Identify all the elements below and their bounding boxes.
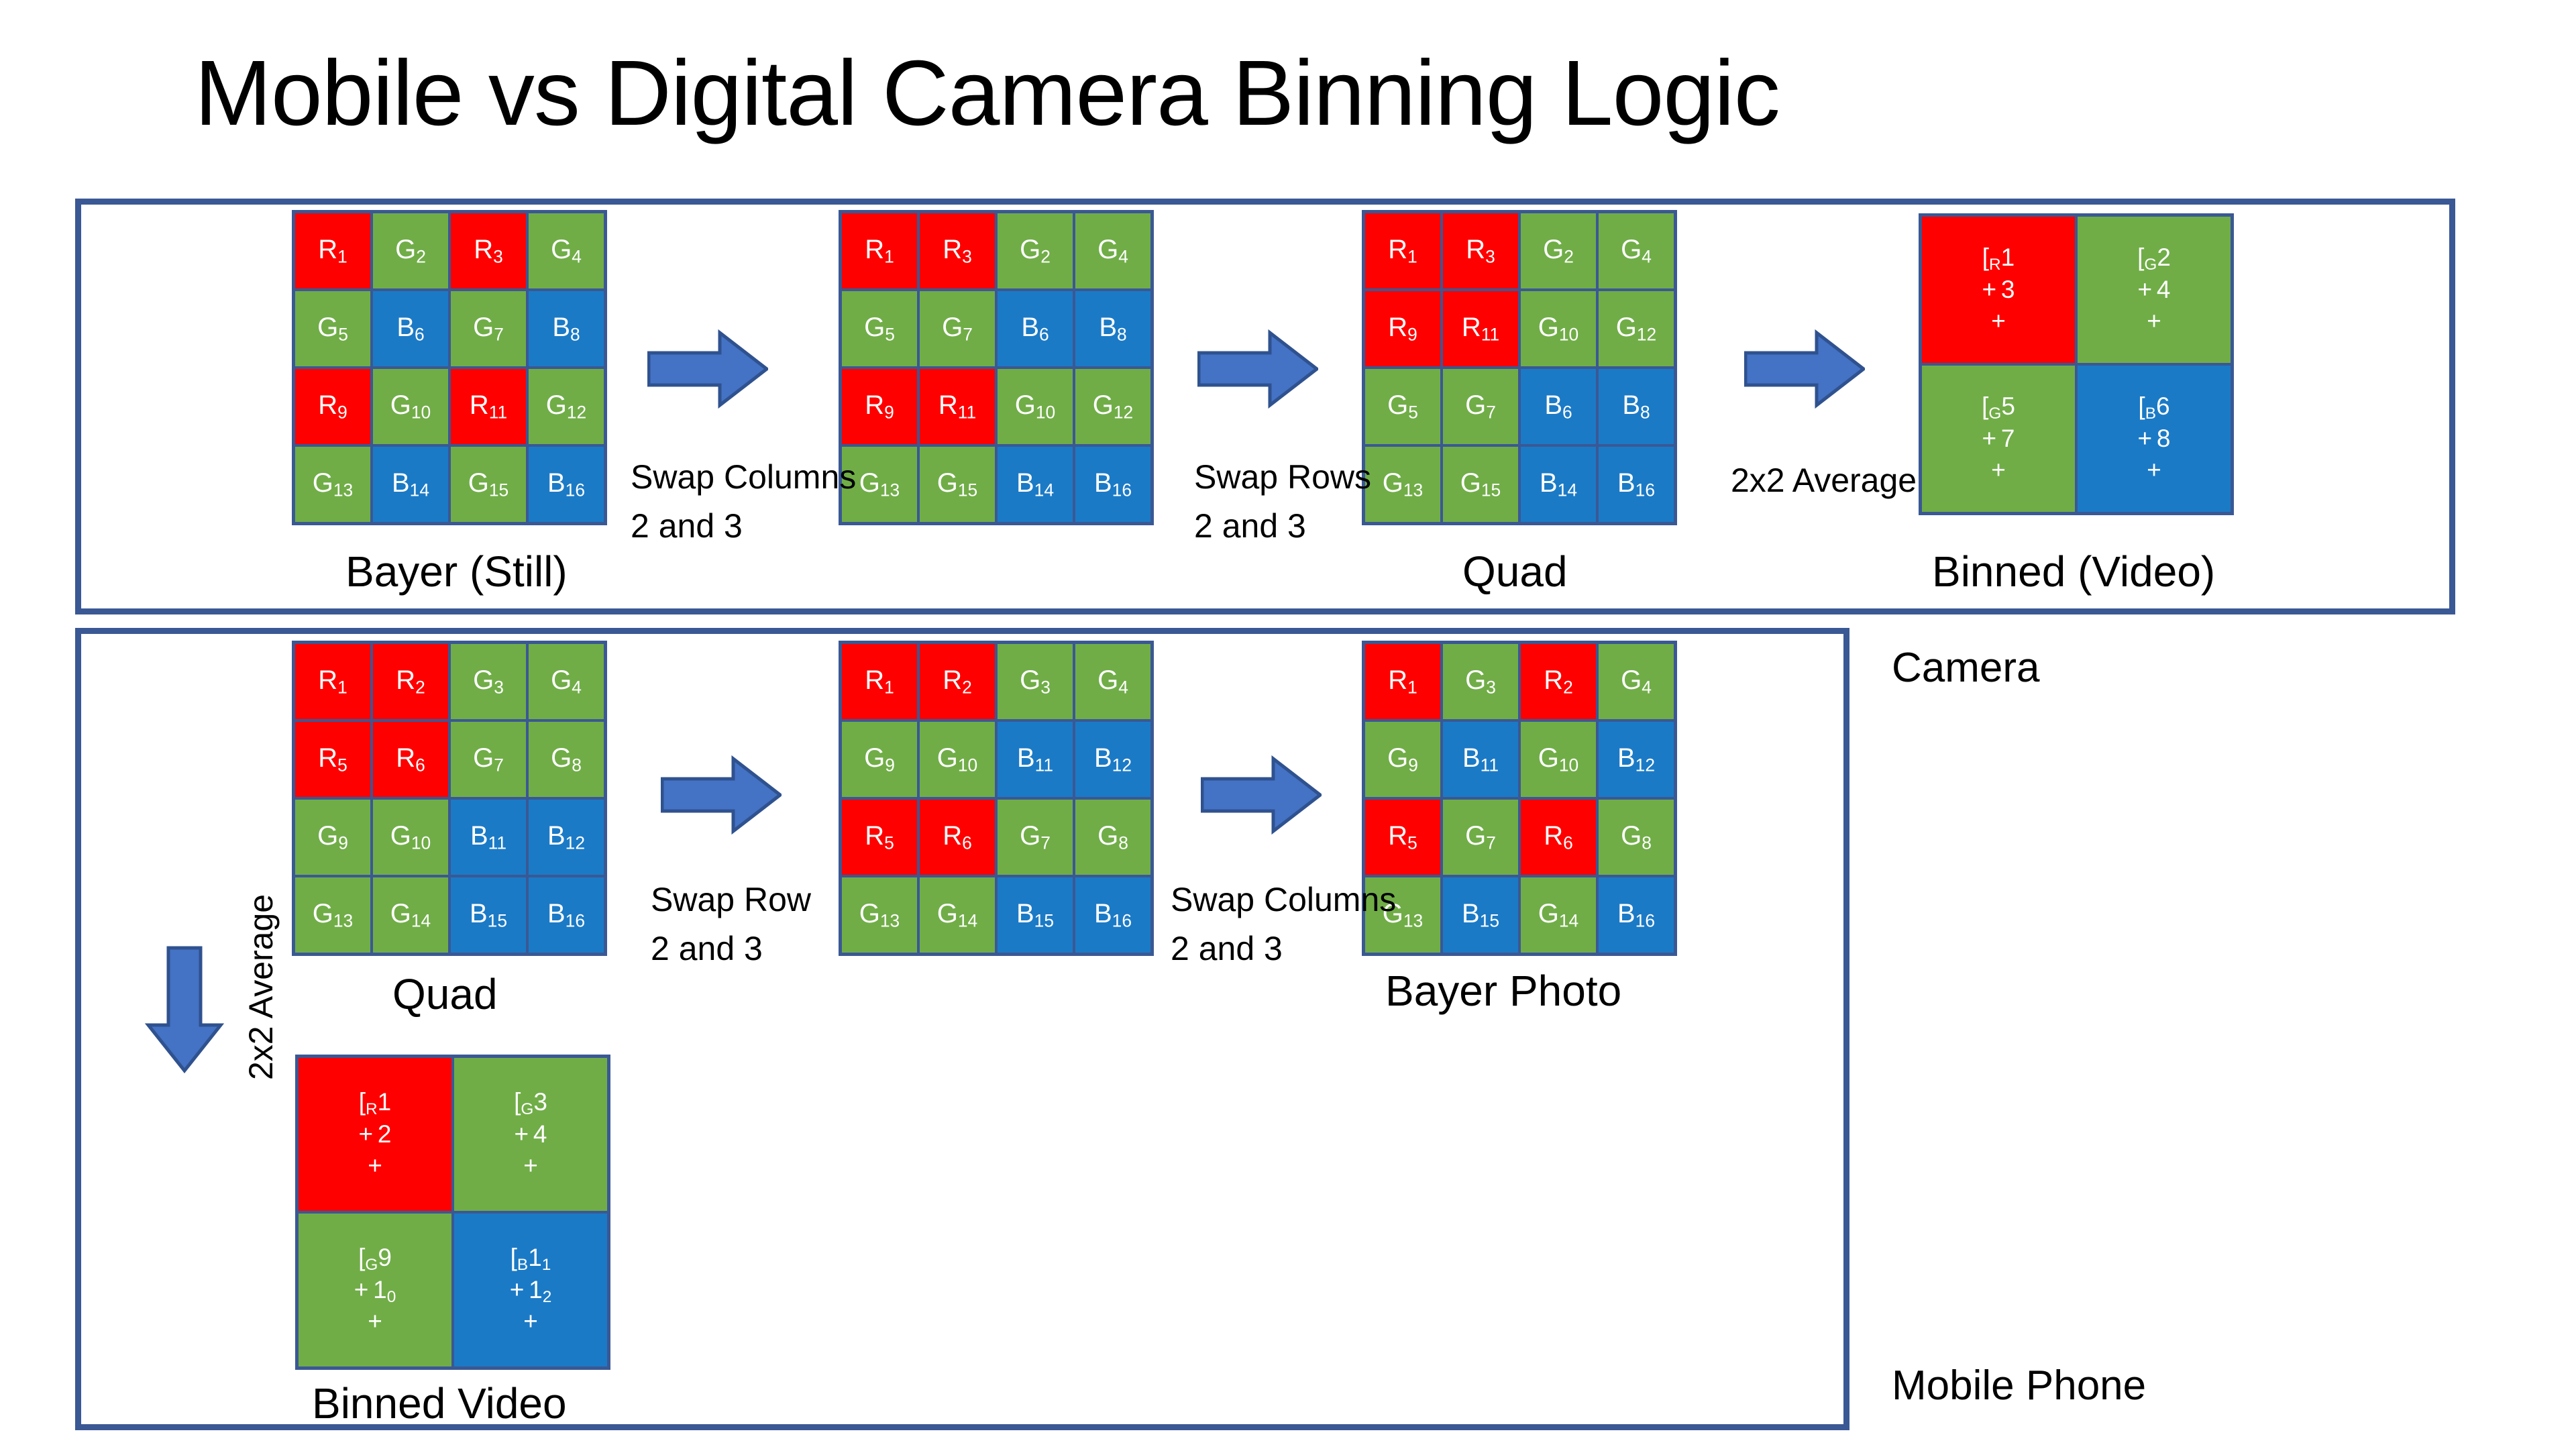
cell-label: G12	[546, 390, 586, 423]
cell-label: G9	[317, 821, 348, 853]
grid-cell: R3	[1443, 213, 1518, 288]
cell-label: R6	[396, 743, 425, 775]
grid-cell: G13	[842, 877, 917, 953]
arrow-right-icon	[1201, 755, 1322, 835]
caption-quad-bottom: Quad	[392, 969, 498, 1019]
cell-label: G5	[317, 313, 348, 345]
cell-label: R2	[943, 665, 972, 698]
cell-label: G15	[1460, 468, 1501, 500]
grid-cell: G10	[998, 369, 1073, 444]
grid-cell: B8	[529, 291, 604, 366]
cell-label: G2	[1543, 235, 1574, 267]
cell-label: B16	[547, 899, 585, 931]
cell-label: B14	[392, 468, 429, 500]
cell-label: B6	[396, 313, 424, 345]
grid-cell: G3	[1443, 644, 1518, 719]
cell-label: G14	[1538, 899, 1578, 931]
grid-cell: G4	[1599, 644, 1674, 719]
grid-cell: G8	[529, 722, 604, 797]
cell-label: R2	[396, 665, 425, 698]
grid-cell: G15	[1443, 447, 1518, 522]
arrow-right-icon	[661, 755, 782, 835]
cell-label: R1	[865, 235, 894, 267]
grid-cell: B16	[529, 877, 604, 953]
cell-label: B16	[1094, 899, 1132, 931]
cell-label: B11	[1017, 743, 1053, 775]
grid-cell: B16	[1075, 877, 1150, 953]
grid-cell: B11	[451, 800, 526, 875]
grid-cell: R1	[842, 644, 917, 719]
grid-cell: [G3+ 4+	[454, 1058, 607, 1211]
cell-label: R11	[1462, 313, 1499, 345]
grid-cell: G15	[920, 447, 995, 522]
cell-label: G10	[1015, 390, 1055, 423]
cell-label: G7	[1465, 821, 1496, 853]
grid-cell: R1	[1365, 213, 1440, 288]
grid-cell: G13	[295, 447, 370, 522]
grid-cell: G2	[998, 213, 1073, 288]
grid-cell: G15	[451, 447, 526, 522]
grid-cell: B15	[1443, 877, 1518, 953]
cell-label: G5	[864, 313, 895, 345]
cell-label: B8	[1622, 390, 1650, 423]
cell-label: B16	[1617, 899, 1655, 931]
grid-cell: G9	[842, 722, 917, 797]
cell-label: G10	[390, 390, 431, 423]
cell-label: G9	[1387, 743, 1418, 775]
grid-cell: G12	[529, 369, 604, 444]
grid-cell: G10	[920, 722, 995, 797]
grid-cell: G5	[842, 291, 917, 366]
grid-cell: G2	[1521, 213, 1596, 288]
grid-cell: G14	[1521, 877, 1596, 953]
grid-cell: B16	[1599, 447, 1674, 522]
cell-label: G10	[937, 743, 977, 775]
cell-label: R5	[318, 743, 347, 775]
cell-label: G14	[937, 899, 977, 931]
cell-label: R3	[474, 235, 503, 267]
grid-bottom-swapped-row: R1R2G3G4G9G10B11B12R5R6G7G8G13G14B15B16	[839, 641, 1154, 956]
grid-cell: G9	[295, 800, 370, 875]
cell-label: B15	[470, 899, 507, 931]
arrow-down-icon	[144, 946, 225, 1073]
step-label-2x2-average-top: 2x2 Average	[1731, 456, 1917, 505]
grid-cell: B16	[1599, 877, 1674, 953]
grid-cell: R2	[920, 644, 995, 719]
grid-cell: G7	[451, 291, 526, 366]
grid-cell: B6	[1521, 369, 1596, 444]
grid-cell: G8	[1075, 800, 1150, 875]
cell-label: G13	[1383, 468, 1423, 500]
grid-cell: G4	[1075, 213, 1150, 288]
cell-label: G4	[1621, 235, 1652, 267]
arrow-right-icon	[1197, 329, 1318, 409]
grid-cell: B15	[451, 877, 526, 953]
caption-binned-video-top: Binned (Video)	[1932, 547, 2215, 596]
cell-label: G10	[1538, 313, 1578, 345]
grid-cell: R1	[1365, 644, 1440, 719]
caption-quad-top: Quad	[1462, 547, 1568, 596]
cell-label: G10	[1538, 743, 1578, 775]
cell-label: R5	[1388, 821, 1417, 853]
cell-label: R5	[865, 821, 894, 853]
cell-label: G7	[942, 313, 973, 345]
grid-cell: R9	[842, 369, 917, 444]
grid-cell: B11	[1443, 722, 1518, 797]
grid-cell: G4	[529, 644, 604, 719]
grid-top-quad: R1R3G2G4R9R11G10G12G5G7B6B8G13G15B14B16	[1362, 210, 1677, 525]
grid-cell: G13	[295, 877, 370, 953]
cell-label: G4	[551, 665, 582, 698]
step-label-2x2-average-bottom: 2x2 Average	[241, 894, 280, 1080]
grid-cell: G7	[451, 722, 526, 797]
cell-label: R6	[1544, 821, 1573, 853]
cell-label: G13	[859, 899, 900, 931]
step-label-swap-columns-top: Swap Columns 2 and 3	[631, 453, 856, 550]
page-title: Mobile vs Digital Camera Binning Logic	[195, 47, 1780, 140]
cell-label: G8	[1097, 821, 1128, 853]
cell-formula: [R1+ 2+	[359, 1087, 392, 1181]
cell-label: B12	[547, 821, 585, 853]
mobile-section-label: Mobile Phone	[1892, 1362, 2146, 1409]
grid-cell: G4	[1599, 213, 1674, 288]
grid-bottom-binned-video: [R1+ 2+[G3+ 4+[G9+ 10+[B11+ 12+	[295, 1055, 610, 1370]
grid-cell: R9	[1365, 291, 1440, 366]
cell-label: R11	[470, 390, 507, 423]
grid-cell: G5	[295, 291, 370, 366]
grid-cell: [B6+ 8+	[2078, 366, 2231, 512]
cell-label: G15	[937, 468, 977, 500]
cell-label: G3	[1020, 665, 1051, 698]
grid-cell: B8	[1599, 369, 1674, 444]
grid-cell: G7	[998, 800, 1073, 875]
grid-cell: R6	[1521, 800, 1596, 875]
grid-cell: G10	[373, 369, 448, 444]
cell-label: R1	[318, 665, 347, 698]
grid-cell: R5	[1365, 800, 1440, 875]
grid-cell: R6	[920, 800, 995, 875]
cell-label: G7	[473, 313, 504, 345]
grid-cell: G8	[1599, 800, 1674, 875]
caption-bayer-photo: Bayer Photo	[1385, 966, 1621, 1016]
cell-label: B14	[1540, 468, 1577, 500]
cell-formula: [R1+ 3+	[1982, 243, 2015, 336]
cell-label: G3	[1465, 665, 1496, 698]
camera-section-label: Camera	[1892, 644, 2040, 692]
grid-cell: R6	[373, 722, 448, 797]
cell-formula: [B6+ 8+	[2138, 392, 2171, 485]
grid-cell: B6	[373, 291, 448, 366]
grid-cell: G14	[373, 877, 448, 953]
cell-formula: [G2+ 4+	[2137, 243, 2171, 336]
grid-cell: G12	[1599, 291, 1674, 366]
grid-cell: G4	[1075, 644, 1150, 719]
cell-label: R9	[318, 390, 347, 423]
cell-label: G2	[1020, 235, 1051, 267]
grid-cell: B12	[1599, 722, 1674, 797]
grid-cell: G9	[1365, 722, 1440, 797]
grid-cell: G3	[451, 644, 526, 719]
grid-cell: G7	[1443, 369, 1518, 444]
grid-cell: R2	[1521, 644, 1596, 719]
cell-label: R1	[1388, 235, 1417, 267]
cell-label: B15	[1016, 899, 1054, 931]
grid-cell: R9	[295, 369, 370, 444]
cell-label: G10	[390, 821, 431, 853]
cell-label: R6	[943, 821, 972, 853]
grid-cell: [G2+ 4+	[2078, 217, 2231, 363]
grid-cell: R11	[451, 369, 526, 444]
diagram-canvas: Mobile vs Digital Camera Binning Logic C…	[0, 0, 2576, 1449]
cell-label: G5	[1387, 390, 1418, 423]
cell-label: B12	[1617, 743, 1655, 775]
cell-label: B8	[552, 313, 580, 345]
grid-cell: G3	[998, 644, 1073, 719]
cell-formula: [B11+ 12+	[510, 1243, 552, 1336]
cell-label: R11	[938, 390, 976, 423]
grid-cell: G2	[373, 213, 448, 288]
cell-label: R1	[865, 665, 894, 698]
grid-cell: G10	[373, 800, 448, 875]
grid-cell: B11	[998, 722, 1073, 797]
cell-label: B6	[1544, 390, 1572, 423]
cell-label: B11	[470, 821, 506, 853]
cell-label: B16	[547, 468, 585, 500]
grid-cell: G5	[1365, 369, 1440, 444]
cell-label: G8	[1621, 821, 1652, 853]
cell-label: B14	[1016, 468, 1054, 500]
grid-cell: R1	[842, 213, 917, 288]
grid-cell: R1	[295, 644, 370, 719]
grid-cell: G7	[920, 291, 995, 366]
grid-cell: B14	[373, 447, 448, 522]
grid-top-binned-video: [R1+ 3+[G2+ 4+[G5+ 7+[B6+ 8+	[1919, 213, 2234, 515]
cell-label: B11	[1462, 743, 1499, 775]
step-label-swap-row-bottom: Swap Row 2 and 3	[651, 875, 811, 973]
grid-cell: [G5+ 7+	[1922, 366, 2075, 512]
arrow-right-icon	[647, 329, 768, 409]
cell-label: G2	[395, 235, 426, 267]
grid-bayer-still: R1G2R3G4G5B6G7B8R9G10R11G12G13B14G15B16	[292, 210, 607, 525]
grid-cell: G10	[1521, 722, 1596, 797]
grid-cell: [R1+ 3+	[1922, 217, 2075, 363]
cell-label: G4	[1097, 665, 1128, 698]
cell-label: B6	[1021, 313, 1049, 345]
grid-cell: R3	[451, 213, 526, 288]
cell-label: G7	[473, 743, 504, 775]
cell-label: B16	[1617, 468, 1655, 500]
cell-label: G13	[859, 468, 900, 500]
grid-cell: R1	[295, 213, 370, 288]
grid-cell: B12	[1075, 722, 1150, 797]
cell-label: R9	[865, 390, 894, 423]
grid-cell: R5	[842, 800, 917, 875]
grid-cell: R2	[373, 644, 448, 719]
cell-label: R9	[1388, 313, 1417, 345]
cell-label: R3	[1466, 235, 1495, 267]
cell-label: G4	[1621, 665, 1652, 698]
cell-label: G15	[468, 468, 508, 500]
cell-label: G3	[473, 665, 504, 698]
grid-cell: B6	[998, 291, 1073, 366]
cell-label: G9	[864, 743, 895, 775]
grid-cell: R11	[920, 369, 995, 444]
cell-label: B12	[1094, 743, 1132, 775]
grid-cell: R3	[920, 213, 995, 288]
cell-formula: [G3+ 4+	[514, 1087, 547, 1181]
cell-label: R2	[1544, 665, 1573, 698]
cell-label: G4	[551, 235, 582, 267]
cell-label: G8	[551, 743, 582, 775]
grid-cell: G14	[920, 877, 995, 953]
grid-cell: G13	[1365, 447, 1440, 522]
grid-cell: B14	[998, 447, 1073, 522]
cell-label: G13	[313, 899, 353, 931]
cell-label: R1	[1388, 665, 1417, 698]
cell-label: R1	[318, 235, 347, 267]
grid-cell: B16	[529, 447, 604, 522]
step-label-swap-columns-bottom: Swap Columns 2 and 3	[1171, 875, 1396, 973]
cell-label: G12	[1093, 390, 1133, 423]
arrow-right-icon	[1744, 329, 1865, 409]
grid-cell: G7	[1443, 800, 1518, 875]
cell-label: G12	[1616, 313, 1656, 345]
grid-cell: [B11+ 12+	[454, 1214, 607, 1366]
grid-bottom-bayer-photo: R1G3R2G4G9B11G10B12R5G7R6G8G13B15G14B16	[1362, 641, 1677, 956]
grid-cell: B8	[1075, 291, 1150, 366]
grid-bottom-quad: R1R2G3G4R5R6G7G8G9G10B11B12G13G14B15B16	[292, 641, 607, 956]
grid-cell: B15	[998, 877, 1073, 953]
cell-formula: [G9+ 10+	[354, 1243, 396, 1336]
cell-label: G13	[313, 468, 353, 500]
grid-cell: B16	[1075, 447, 1150, 522]
grid-cell: R11	[1443, 291, 1518, 366]
grid-cell: G12	[1075, 369, 1150, 444]
grid-cell: B12	[529, 800, 604, 875]
grid-cell: G10	[1521, 291, 1596, 366]
caption-binned-video-bottom: Binned Video	[312, 1379, 567, 1428]
cell-label: B15	[1462, 899, 1499, 931]
grid-top-swapped-columns: R1R3G2G4G5G7B6B8R9R11G10G12G13G15B14B16	[839, 210, 1154, 525]
grid-cell: [G9+ 10+	[299, 1214, 451, 1366]
cell-label: B8	[1099, 313, 1126, 345]
cell-formula: [G5+ 7+	[1982, 392, 2015, 485]
cell-label: R3	[943, 235, 972, 267]
grid-cell: [R1+ 2+	[299, 1058, 451, 1211]
cell-label: G4	[1097, 235, 1128, 267]
cell-label: G7	[1465, 390, 1496, 423]
caption-bayer-still: Bayer (Still)	[345, 547, 568, 596]
grid-cell: B14	[1521, 447, 1596, 522]
cell-label: G7	[1020, 821, 1051, 853]
grid-cell: G4	[529, 213, 604, 288]
cell-label: G14	[390, 899, 431, 931]
step-label-swap-rows-top: Swap Rows 2 and 3	[1194, 453, 1371, 550]
cell-label: B16	[1094, 468, 1132, 500]
grid-cell: R5	[295, 722, 370, 797]
